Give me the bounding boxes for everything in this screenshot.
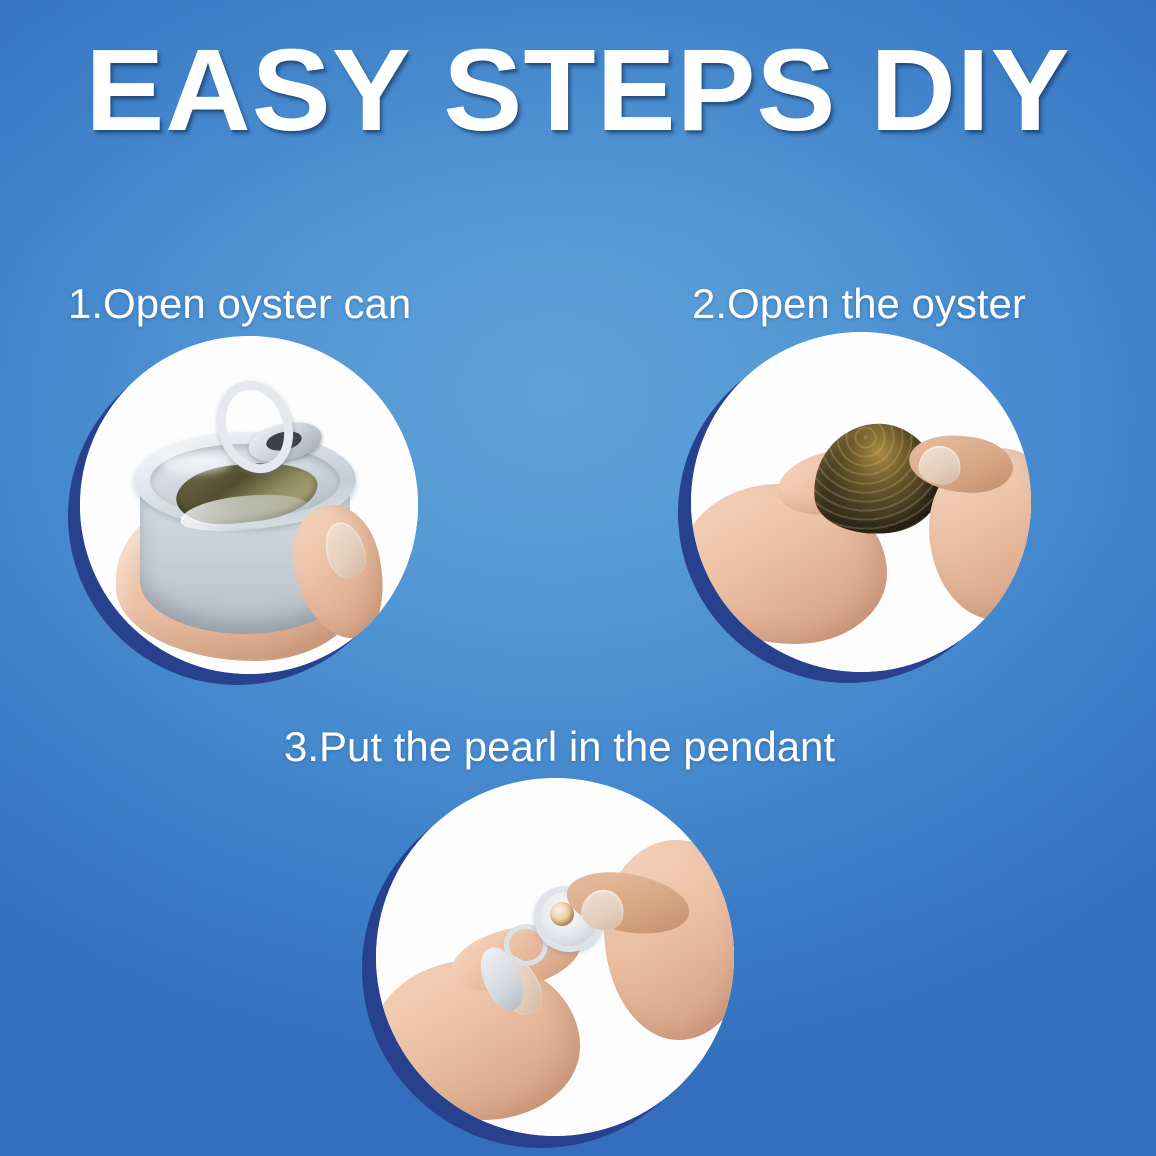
oyster-knife-icon [691,332,1031,672]
highlight [160,452,230,474]
step-3-label: 3.Put the pearl in the pendant [284,724,835,770]
right-hand-palm [604,840,734,1040]
step-3-photo [376,778,734,1136]
step-2-photo [691,332,1031,672]
step-1-label: 1.Open oyster can [68,281,411,327]
step-3-image [362,778,744,1156]
step-1-photo [80,336,418,674]
pendant-pearl-icon [376,778,734,1136]
step-2-label: 2.Open the oyster [692,281,1026,327]
diy-instruction-poster: EASY STEPS DIY 1.Open oyster can 2.Open … [0,0,1156,1156]
can-pulltab-icon [80,336,418,674]
step-1-image [68,336,428,696]
step-2-image [678,332,1040,694]
page-title: EASY STEPS DIY [0,32,1156,148]
